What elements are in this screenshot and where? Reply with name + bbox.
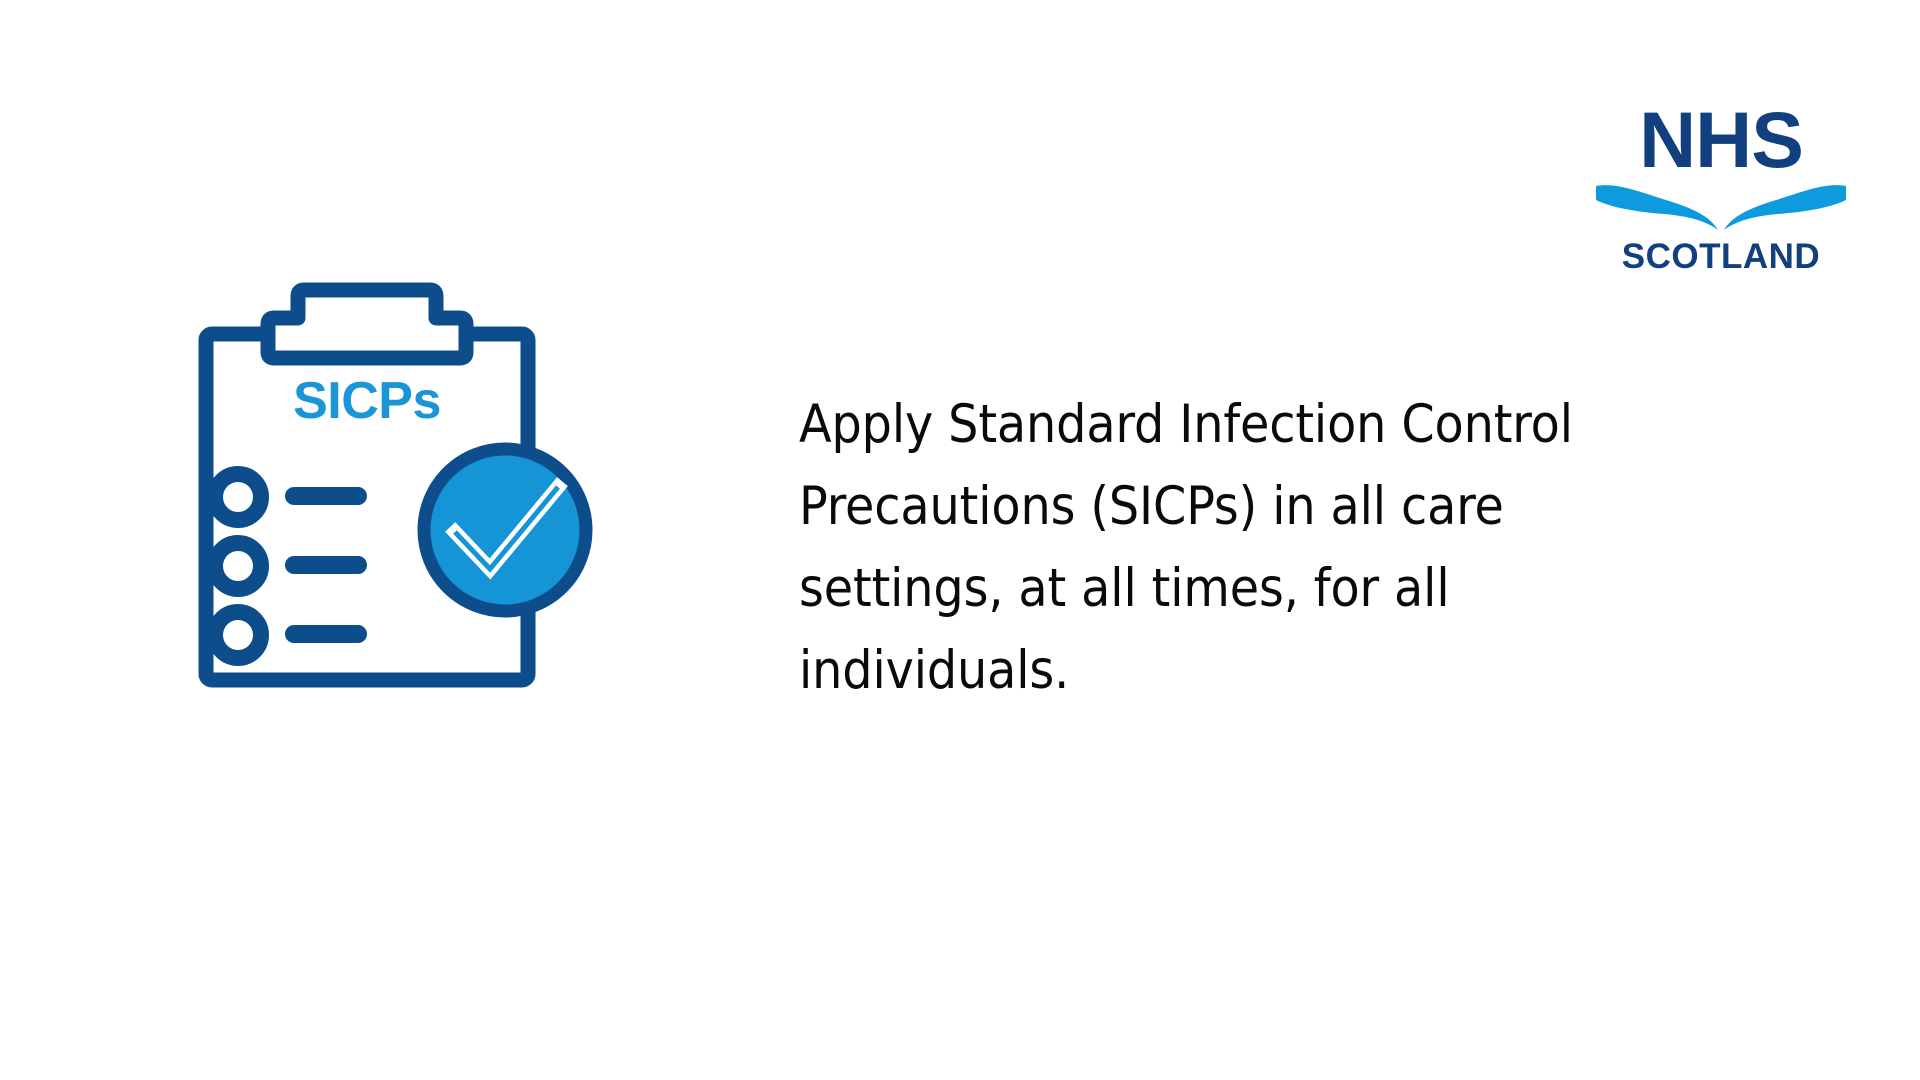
slide-body-text: Apply Standard Infection Control Precaut… bbox=[799, 384, 1629, 712]
clipboard-sicps-label: SICPs bbox=[293, 372, 441, 430]
nhs-wave-swoosh-icon bbox=[1596, 185, 1846, 230]
nhs-scotland-logo: NHS SCOTLAND bbox=[1592, 90, 1850, 290]
checklist-line-icon bbox=[285, 487, 367, 505]
slide-canvas: NHS SCOTLAND SICPs bbox=[0, 0, 1920, 1080]
clipboard-clip-icon bbox=[268, 290, 466, 358]
sicps-clipboard-check-icon: SICPs bbox=[180, 278, 610, 696]
nhs-logo-country-name: SCOTLAND bbox=[1622, 237, 1820, 276]
check-badge-icon bbox=[424, 449, 586, 611]
checklist-line-icon bbox=[285, 625, 367, 643]
checklist-line-icon bbox=[285, 556, 367, 574]
nhs-scotland-logo-graphic: NHS SCOTLAND bbox=[1592, 90, 1850, 290]
clipboard-graphic: SICPs bbox=[180, 278, 610, 696]
nhs-logo-wordmark: NHS bbox=[1639, 95, 1803, 184]
